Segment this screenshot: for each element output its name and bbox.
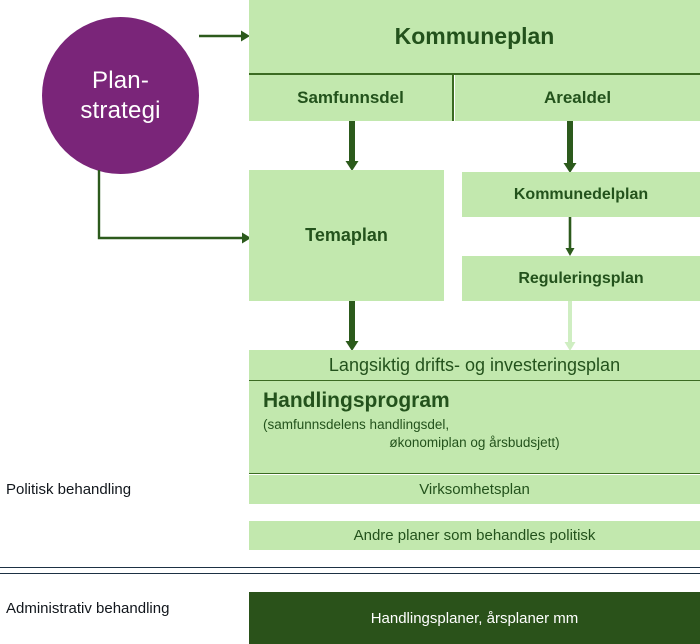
samfunnsdel-label: Samfunnsdel — [297, 88, 404, 108]
kommuneplan-part-samfunnsdel[interactable]: Samfunnsdel — [249, 75, 452, 121]
side-label-administrativ: Administrativ behandling — [6, 600, 169, 617]
planstrategi-line1: Plan- — [92, 66, 149, 96]
planstrategi-circle[interactable]: Plan- strategi — [42, 17, 199, 174]
connector-circle-to-temaplan — [96, 170, 254, 250]
virksomhetsplan-label: Virksomhetsplan — [419, 481, 530, 498]
connector-kommunedelplan-to-reguleringsplan — [562, 216, 578, 257]
andre-planer-box[interactable]: Andre planer som behandles politisk — [249, 521, 700, 550]
kommuneplan-box[interactable]: Kommuneplan — [249, 0, 700, 73]
handlingsplaner-label: Handlingsplaner, årsplaner mm — [371, 610, 579, 627]
kommunedelplan-label: Kommunedelplan — [514, 186, 648, 204]
langsiktig-box[interactable]: Langsiktig drifts- og investeringsplan — [249, 350, 700, 380]
handlingsplaner-box[interactable]: Handlingsplaner, årsplaner mm — [249, 592, 700, 644]
kommuneplan-part-arealdel[interactable]: Arealdel — [455, 75, 700, 121]
side-label-politisk: Politisk behandling — [6, 481, 131, 498]
planstrategi-line2: strategi — [80, 96, 160, 126]
reguleringsplan-label: Reguleringsplan — [518, 270, 643, 288]
langsiktig-label: Langsiktig drifts- og investeringsplan — [329, 355, 620, 376]
handlingsprogram-box[interactable]: Handlingsprogram (samfunnsdelens handlin… — [249, 381, 700, 473]
connector-temaplan-to-langsiktig — [344, 300, 360, 352]
andre-planer-label: Andre planer som behandles politisk — [354, 527, 596, 544]
reguleringsplan-box[interactable]: Reguleringsplan — [462, 256, 700, 301]
diagram-canvas: Plan- strategi — [0, 0, 700, 644]
handlingsprogram-subline-1: (samfunnsdelens handlingsdel, — [263, 417, 686, 432]
temaplan-label: Temaplan — [305, 225, 388, 246]
arealdel-label: Arealdel — [544, 88, 611, 108]
section-divider-top — [0, 567, 700, 568]
handlingsprogram-title: Handlingsprogram — [263, 387, 686, 414]
connector-circle-to-kommuneplan — [199, 28, 251, 44]
kommunedelplan-box[interactable]: Kommunedelplan — [462, 172, 700, 217]
kommuneplan-label: Kommuneplan — [395, 23, 555, 50]
temaplan-box[interactable]: Temaplan — [249, 170, 444, 301]
connector-arealdel-to-kommunedelplan — [562, 121, 578, 174]
handlingsprogram-subline-2: økonomiplan og årsbudsjett) — [263, 435, 686, 450]
connector-reguleringsplan-to-langsiktig — [562, 300, 578, 352]
connector-samfunnsdel-to-temaplan — [344, 121, 360, 172]
kommuneplan-part-divider — [452, 75, 454, 121]
virksomhetsplan-box[interactable]: Virksomhetsplan — [249, 475, 700, 504]
section-divider-bottom — [0, 573, 700, 574]
